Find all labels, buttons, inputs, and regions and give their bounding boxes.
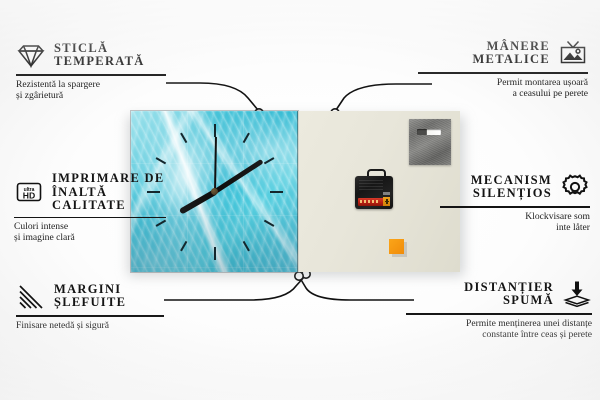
battery-positive-terminal: [383, 197, 390, 206]
callout-header: MARGINI ȘLEFUITE: [16, 281, 164, 311]
clock-minute-hand: [213, 158, 264, 193]
clock-tick-6: [214, 192, 216, 260]
infographic-canvas: STICLĂ TEMPERATĂ Rezistentă la spargere …: [0, 0, 600, 400]
diamond-icon: [16, 40, 46, 70]
picture-hanger-icon: [558, 38, 588, 68]
callout-metal-handles: MÂNERE METALICE Permit montarea ușoară a…: [418, 38, 588, 99]
clock-tick-3: [215, 191, 283, 193]
clock-back-panel: [298, 111, 460, 272]
product-wall-clock: [131, 111, 460, 272]
callout-rule: [406, 313, 592, 315]
press-down-stack-icon: [562, 279, 592, 309]
callout-rule: [16, 315, 164, 317]
callout-polished-edges: MARGINI ȘLEFUITE Finisare netedă și sigu…: [16, 281, 164, 331]
callout-title: STICLĂ TEMPERATĂ: [54, 42, 145, 69]
leader-line-foam-spacer: [300, 278, 414, 300]
callout-subtitle: Rezistentă la spargere și zgârietură: [16, 79, 166, 101]
clock-center-cap: [211, 188, 218, 195]
callout-rule: [16, 74, 166, 76]
callout-header: MECANISM SILENȚIOS: [440, 172, 590, 202]
callout-subtitle: Finisare netedă și sigură: [16, 320, 164, 331]
quartz-clock-mechanism: [355, 169, 393, 209]
callout-foam-spacer: DISTANȚIER SPUMĂ Permite menținerea unei…: [406, 279, 592, 340]
callout-high-quality-print: ultra HD IMPRIMARE DE ÎNALTĂ CALITATE Cu…: [14, 172, 166, 243]
callout-tempered-glass: STICLĂ TEMPERATĂ Rezistentă la spargere …: [16, 40, 166, 101]
callout-header: ultra HD IMPRIMARE DE ÎNALTĂ CALITATE: [14, 172, 166, 213]
leader-line-tempered-glass: [166, 83, 258, 110]
callout-title: MARGINI ȘLEFUITE: [54, 283, 126, 310]
callout-subtitle: Permit montarea ușoară a ceasului pe per…: [418, 77, 588, 99]
callout-rule: [440, 206, 590, 208]
hanger-keyhole-slot: [417, 129, 441, 135]
metal-hanger-plate: [409, 119, 451, 165]
callout-rule: [14, 217, 166, 219]
leader-line-polished-edges: [164, 276, 305, 300]
polished-edge-icon: [16, 281, 46, 311]
callout-subtitle: Klockvisare som inte låter: [440, 211, 590, 233]
callout-rule: [418, 72, 588, 74]
foam-spacer-pad: [389, 239, 404, 254]
callout-header: MÂNERE METALICE: [418, 38, 588, 68]
svg-text:HD: HD: [23, 191, 35, 201]
callout-silent-mechanism: MECANISM SILENȚIOS Klockvisare som inte …: [440, 172, 590, 233]
callout-title: MÂNERE METALICE: [472, 40, 550, 67]
clock-second-hand: [213, 136, 216, 194]
callout-header: DISTANȚIER SPUMĂ: [406, 279, 592, 309]
hanger-brushed-texture: [409, 119, 451, 165]
callout-title: MECANISM SILENȚIOS: [471, 174, 552, 201]
callout-header: STICLĂ TEMPERATĂ: [16, 40, 166, 70]
aa-battery: [358, 198, 389, 206]
gear-icon: [560, 172, 590, 202]
ultra-hd-icon: ultra HD: [14, 177, 44, 207]
callout-subtitle: Culori intense și imagine clară: [14, 221, 166, 243]
callout-title: IMPRIMARE DE ÎNALTĂ CALITATE: [52, 172, 166, 213]
callout-subtitle: Permite menținerea unei distanțe constan…: [406, 318, 592, 340]
callout-title: DISTANȚIER SPUMĂ: [464, 281, 554, 308]
